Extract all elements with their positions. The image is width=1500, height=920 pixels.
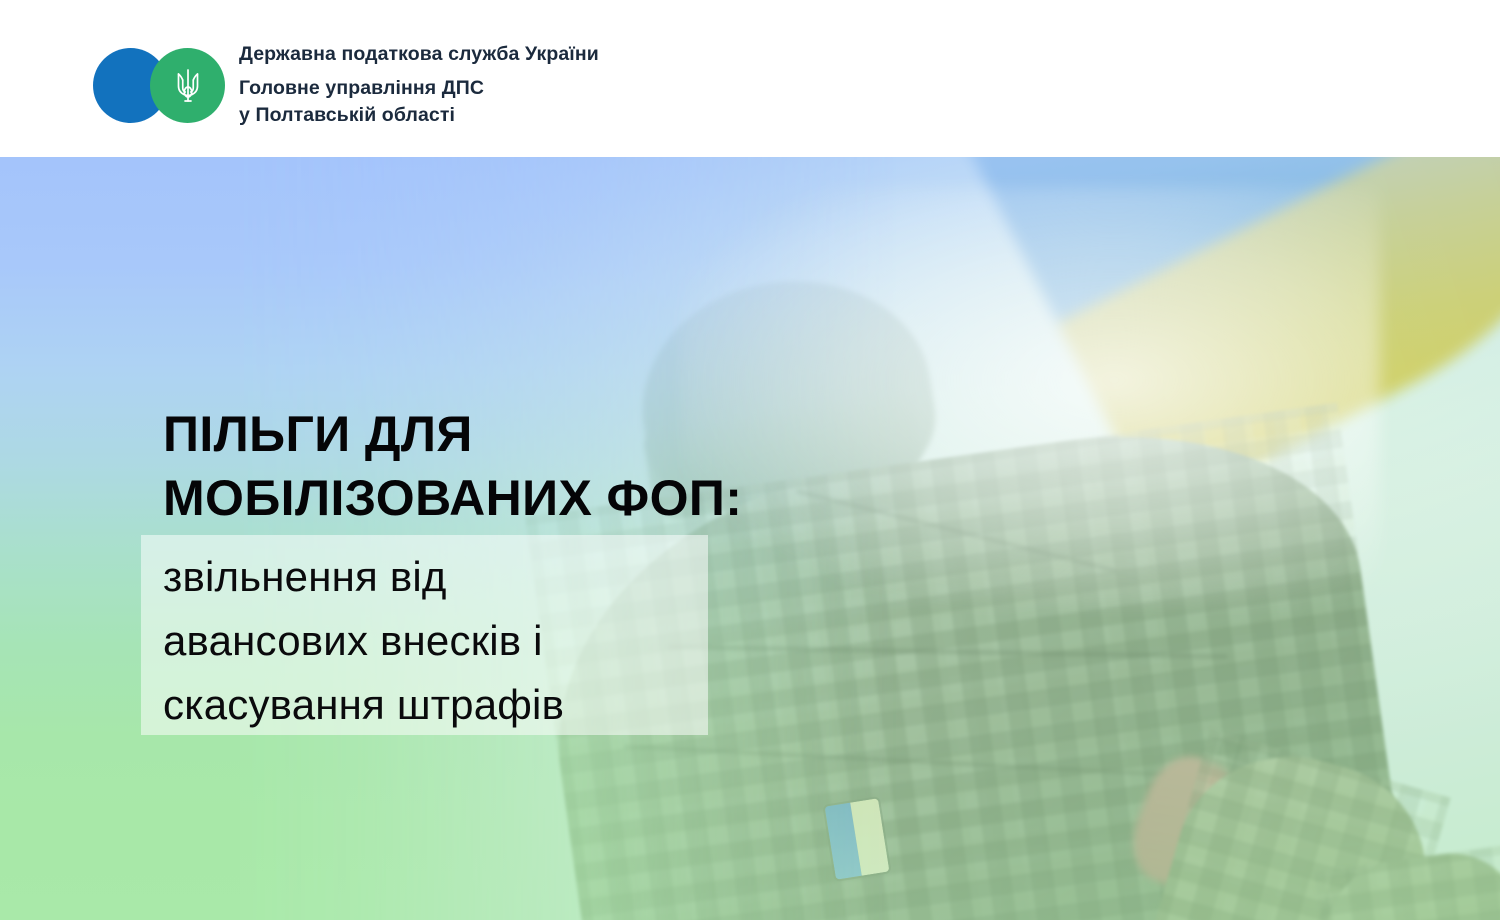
org-name-line-3: у Полтавській області bbox=[239, 102, 759, 129]
page-title: ПІЛЬГИ ДЛЯ МОБІЛІЗОВАНИХ ФОП: bbox=[163, 402, 742, 530]
header-bar: Державна податкова служба України Головн… bbox=[0, 0, 1500, 157]
org-name-line-1: Державна податкова служба України bbox=[239, 41, 759, 67]
page-subtitle: звільнення від авансових внесків і скасу… bbox=[163, 545, 723, 737]
shoulder-flag-patch bbox=[825, 798, 890, 880]
org-name-line-2: Головне управління ДПС bbox=[239, 75, 759, 102]
hero-banner: ПІЛЬГИ ДЛЯ МОБІЛІЗОВАНИХ ФОП: звільнення… bbox=[0, 157, 1500, 920]
dps-logo bbox=[93, 41, 227, 130]
dps-logo-green-circle bbox=[150, 48, 225, 123]
ukraine-trident-icon bbox=[173, 66, 203, 106]
org-name-block: Державна податкова служба України Головн… bbox=[239, 41, 759, 129]
poster-root: Державна податкова служба України Головн… bbox=[0, 0, 1500, 920]
